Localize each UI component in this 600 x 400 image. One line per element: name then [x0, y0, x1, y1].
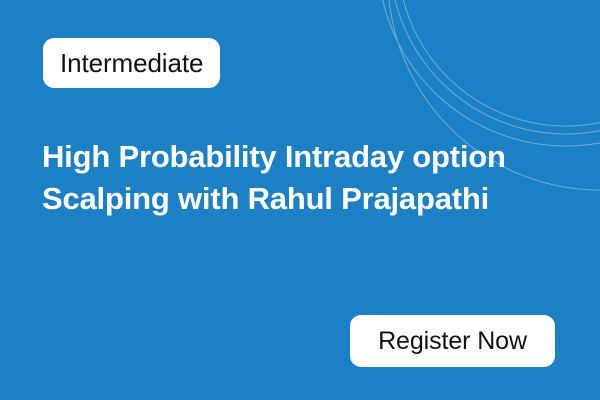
level-badge: Intermediate	[43, 38, 220, 88]
course-promo-banner: Intermediate High Probability Intraday o…	[0, 0, 600, 400]
register-now-label: Register Now	[378, 329, 527, 354]
register-now-button[interactable]: Register Now	[350, 315, 555, 367]
level-badge-label: Intermediate	[60, 50, 203, 76]
banner-headline: High Probability Intraday option Scalpin…	[42, 136, 554, 220]
